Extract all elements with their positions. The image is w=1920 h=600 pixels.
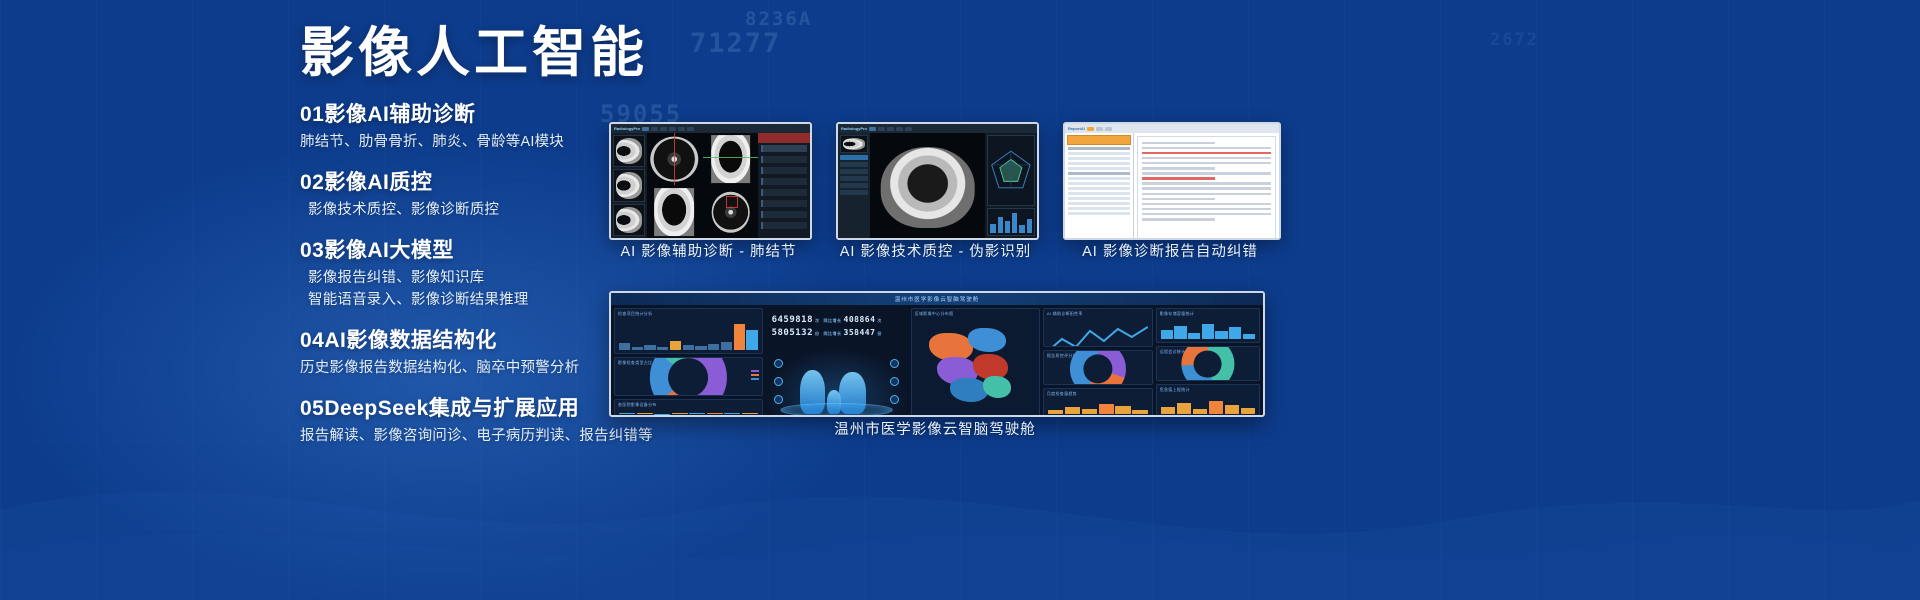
dashboard-panel-bar-5[interactable]: 危急值上报统计 [1156,384,1260,417]
bar-chart [619,321,758,350]
viewer-body [611,133,810,238]
report-text-line [1142,147,1271,150]
toolbar-pip [687,127,694,131]
toolbar-pip [651,127,658,131]
bg-number-5: 2672 [1490,30,1539,50]
worklist-row[interactable] [1068,177,1130,180]
panel-title: 远程会诊统计 [1160,349,1186,355]
ct-sagittal-pane [647,186,702,238]
kpi-sub-value-2: 358447 [844,328,876,337]
toolbar-pip [878,127,885,131]
kpi-sub-unit-1: 次 [877,318,882,323]
screenshot-caption-1: AI 影像辅助诊断 - 肺结节 [609,240,808,261]
series-thumbnail [613,204,645,236]
qc-body [838,133,1037,238]
worklist-toolbar [1067,135,1131,145]
app-title-label: RadiologyPro [614,126,640,131]
dashboard-panel-line-1[interactable]: AI 辅助诊断阳性率 [1043,308,1153,347]
qc-bar-chart [987,208,1035,236]
dashboard-panel-donut-1[interactable]: 影像检查类型占比 [614,357,763,396]
qc-thumbnail [840,135,868,153]
finding-row[interactable] [761,156,807,163]
kpi-row-1: 6459818次同比增长408864次 [772,315,902,325]
feature-subtitle-03-line1: 影像报告纠错、影像知识库 [300,268,680,290]
toolbar-pip [869,127,876,131]
finding-row[interactable] [761,200,807,207]
report-worklist-panel [1065,133,1134,238]
toolbar-pip [1096,127,1103,131]
qc-metrics-panel [985,133,1037,238]
qc-nav-item[interactable] [840,169,868,174]
finding-row[interactable] [761,178,807,185]
toolbar-pip [642,127,649,131]
app-title-label: ReportAI [1068,126,1085,131]
dashboard-kpi-block: 6459818次同比增长408864次 5805132份同比增长358447份 [766,308,908,345]
dashboard-panel-bar-1[interactable]: 检查项目统计分析 [614,308,763,354]
findings-panel [758,133,810,238]
report-text-line [1142,218,1215,221]
donut-chart [1181,346,1234,381]
finding-row[interactable] [761,222,807,229]
kpi-sub-label-1: 同比增长 [824,318,842,323]
qc-nav-item[interactable] [840,162,868,167]
worklist-row[interactable] [1068,147,1130,150]
panel-title: 影像存储容量统计 [1160,311,1194,317]
dashboard-panel-bar-4[interactable]: 影像存储容量统计 [1156,308,1260,343]
window-titlebar: ReportAI [1065,124,1279,133]
report-body [1065,133,1279,238]
finding-row[interactable] [761,211,807,218]
dashboard-region-map[interactable]: 区域影像中心分布图 [911,308,1040,417]
donut-chart [650,357,726,396]
report-editor-panel [1134,133,1279,238]
findings-header [758,133,810,143]
screenshot-card-lung-nodule: RadiologyPro [609,122,812,240]
series-thumbnail [613,135,645,167]
dashboard-column-left: 检查项目统计分析 影像检查类型占比 [614,308,763,417]
bar-chart [1161,397,1255,414]
panel-title: 检查项目统计分析 [618,311,652,317]
panel-title: 影像检查类型占比 [618,360,652,366]
report-text-line [1142,203,1271,206]
qc-nav-item[interactable] [840,183,868,188]
worklist-row[interactable] [1068,192,1130,195]
worklist-row[interactable] [1068,157,1130,160]
qc-nav-item[interactable] [840,190,868,195]
worklist-row[interactable] [1068,212,1130,215]
report-text-line [1142,208,1271,211]
panel-title: 月度检查量趋势 [1047,391,1077,397]
worklist-row[interactable] [1068,197,1130,200]
page-title: 影像人工智能 [300,26,680,80]
dashboard-column-kpi: 6459818次同比增长408864次 5805132份同比增长358447份 [766,308,908,417]
banner-stage: 8236A 71277 59055 26722 2672 影像人工智能 01影像… [0,0,1920,600]
toolbar-pip [1087,127,1094,131]
kpi-unit-2: 份 [815,331,820,336]
dashboard-panel-donut-2[interactable]: 报告质控评分趋势 [1043,350,1153,385]
report-text-line-error [1142,152,1271,155]
panel-title: 各医院影像设备分布 [618,402,657,408]
kpi-sub-unit-2: 份 [877,331,882,336]
dashboard-header: 温州市医学影像云智脑驾驶舱 [611,293,1263,305]
series-thumbnail-strip [611,133,647,238]
dashboard-column-right: 影像存储容量统计 远程会诊统计 危急值上报统计 [1156,308,1260,417]
dashboard-caption: 温州市医学影像云智脑驾驶舱 [609,418,1261,439]
screenshot-card-report-correction: ReportAI [1063,122,1281,240]
series-thumbnail [613,169,645,201]
qc-image-viewport [870,133,985,238]
toolbar-pip [896,127,903,131]
report-text-line [1142,187,1271,190]
screenshot-card-artifact-qc: RadiologyPro [836,122,1039,240]
dashboard-column-4: AI 辅助诊断阳性率 报告质控评分趋势 月度检查量趋势 [1043,308,1153,417]
bg-number-1: 8236A [745,8,812,30]
kpi-sub-label-2: 同比增长 [824,331,842,336]
panel-title: AI 辅助诊断阳性率 [1047,311,1083,317]
dashboard-panel-bar-2[interactable]: 各医院影像设备分布 [614,399,763,417]
toolbar-pip [1105,127,1112,131]
app-title-label: RadiologyPro [841,126,867,131]
bar-chart [1161,321,1255,339]
panel-title: 区域影像中心分布图 [915,311,954,317]
kpi-value-2: 5805132 [772,328,813,338]
screenshot-caption-2: AI 影像技术质控 - 伪影识别 [836,240,1035,261]
worklist-row[interactable] [1068,162,1130,165]
dashboard-panel-bar-3[interactable]: 月度检查量趋势 [1043,388,1153,417]
chart-legend [751,370,759,380]
ct-coronal-pane [703,133,758,185]
report-text-line [1142,167,1215,170]
window-titlebar: RadiologyPro [611,124,810,133]
dashboard-column-map: 区域影像中心分布图 [911,308,1040,417]
worklist-row[interactable] [1068,207,1130,210]
dashboard-panel-donut-3[interactable]: 远程会诊统计 [1156,346,1260,381]
report-text-line-error [1142,177,1215,180]
worklist-row[interactable] [1068,172,1130,175]
worklist-row[interactable] [1068,202,1130,205]
finding-row[interactable] [761,189,807,196]
worklist-row[interactable] [1068,152,1130,155]
toolbar-pip [669,127,676,131]
qc-nav-panel [838,133,870,238]
finding-row[interactable] [761,167,807,174]
kpi-sub-value-1: 408864 [844,315,876,324]
line-chart [1048,321,1148,347]
dashboard-header-title: 温州市医学影像云智脑驾驶舱 [895,295,980,303]
toolbar-pip [887,127,894,131]
report-text-line [1142,213,1271,216]
worklist-row[interactable] [1068,187,1130,190]
toolbar-pip [905,127,912,131]
bar-chart [1048,401,1148,414]
kpi-unit-1: 次 [815,318,820,323]
report-document[interactable] [1137,136,1276,240]
kpi-value-1: 6459818 [772,315,813,325]
screenshot-caption-3: AI 影像诊断报告自动纠错 [1053,240,1287,261]
report-text-line [1142,172,1271,175]
image-viewport-grid [647,133,758,238]
toolbar-pip [660,127,667,131]
report-text-line [1142,162,1271,165]
qc-nav-item[interactable] [840,176,868,181]
dashboard-population-figure [766,348,908,417]
dashboard-panel-grid: 检查项目统计分析 影像检查类型占比 [611,305,1263,417]
finding-row[interactable] [761,145,807,152]
ct-mip-pane [703,186,758,238]
bg-number-2: 71277 [690,28,781,59]
bar-chart [619,412,758,414]
toolbar-pip [678,127,685,131]
dashboard-screenshot: 温州市医学影像云智脑驾驶舱 检查项目统计分析 影像检查 [609,291,1265,417]
panel-title: 危急值上报统计 [1160,387,1190,393]
ct-axial-pane [647,133,702,185]
report-text-line [1142,182,1271,185]
report-text-line [1142,193,1271,196]
window-titlebar: RadiologyPro [838,124,1037,133]
report-text-line [1142,142,1215,145]
qc-nav-item[interactable] [840,155,868,160]
report-text-line [1142,198,1215,201]
worklist-row[interactable] [1068,182,1130,185]
report-text-line [1142,157,1271,160]
worklist-row[interactable] [1068,167,1130,170]
donut-chart [1070,350,1126,385]
qc-radar-chart [987,135,1035,206]
kpi-row-2: 5805132份同比增长358447份 [772,328,902,338]
